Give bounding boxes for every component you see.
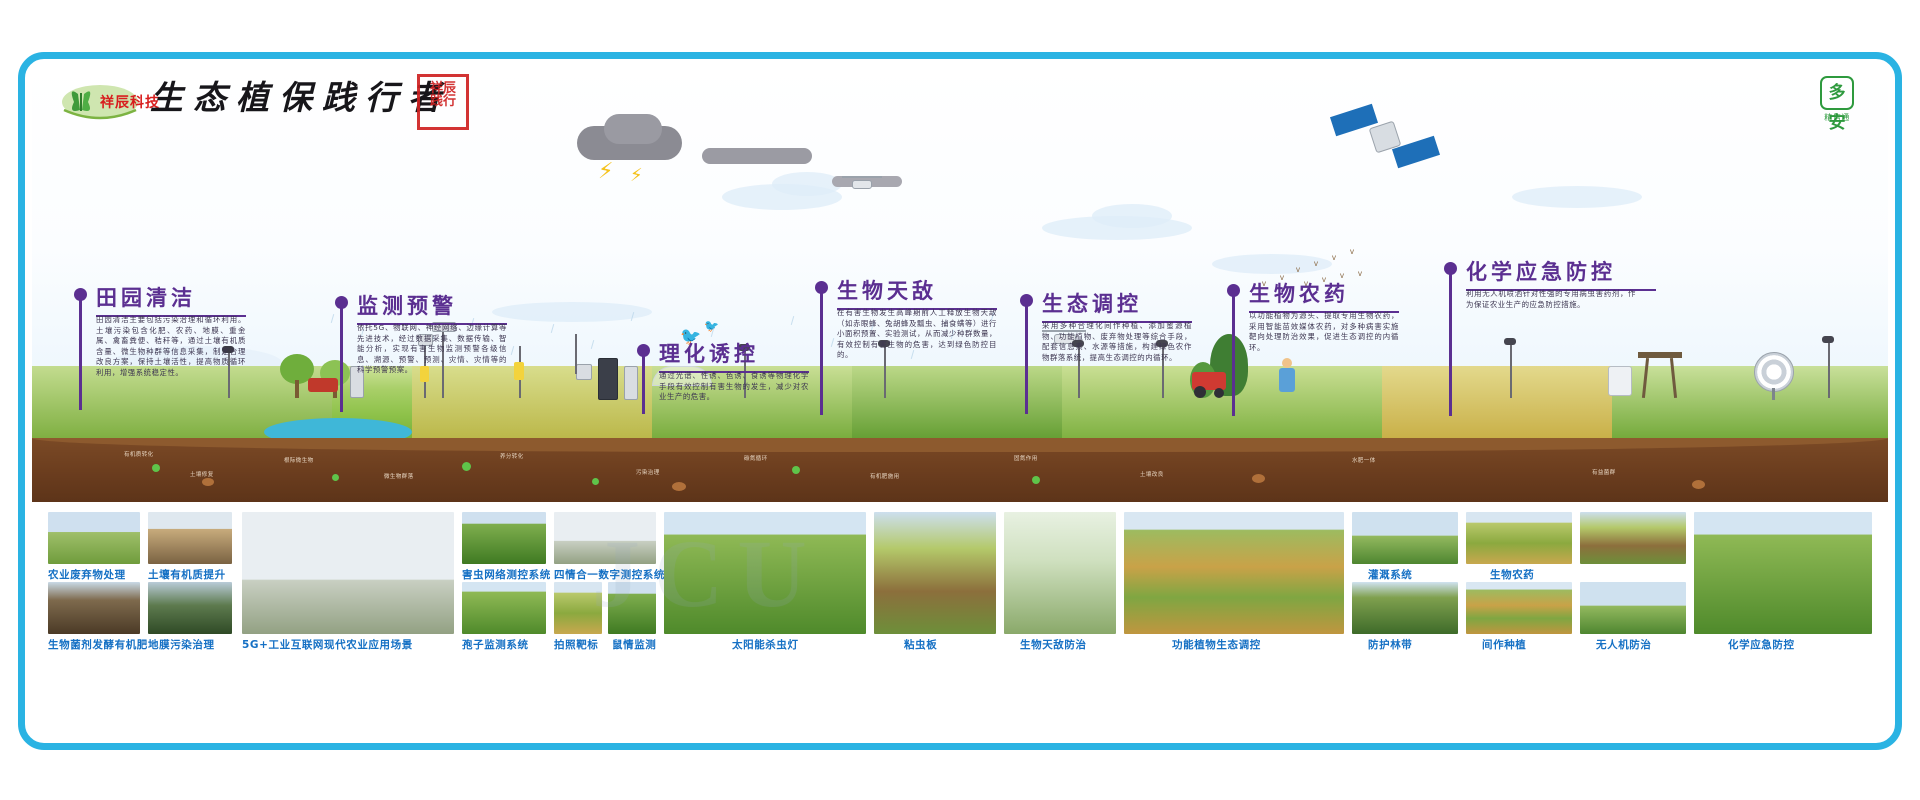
section-title: 生物农药 bbox=[1249, 278, 1399, 313]
goose-icon: v bbox=[1358, 270, 1362, 278]
poster-frame: ⚡ ⚡ 🐦 🐦 v v v v v v v v v bbox=[18, 52, 1902, 750]
gallery-photo[interactable] bbox=[1694, 512, 1872, 634]
gallery-caption: 农业废弃物处理 bbox=[48, 567, 126, 582]
organic-matter-dot bbox=[1252, 474, 1265, 483]
soil-label: 水肥一体 bbox=[1352, 456, 1376, 464]
section-title: 生物天敌 bbox=[837, 275, 997, 310]
harvester-icon bbox=[308, 378, 338, 392]
gallery-photo[interactable] bbox=[462, 512, 546, 564]
gallery-caption: 生物天敌防治 bbox=[1020, 637, 1087, 652]
gallery-photo[interactable] bbox=[664, 512, 866, 634]
field-band bbox=[1382, 366, 1612, 444]
organic-matter-dot bbox=[672, 482, 686, 491]
drone-icon bbox=[852, 180, 872, 189]
gallery-photo[interactable] bbox=[1580, 582, 1686, 634]
gallery-photo[interactable] bbox=[1124, 512, 1344, 634]
goose-icon: v bbox=[1296, 266, 1300, 274]
gallery-caption: 害虫网络测控系统 bbox=[462, 567, 551, 582]
gallery-photo[interactable] bbox=[1352, 582, 1458, 634]
gallery-photo[interactable] bbox=[48, 512, 140, 564]
gallery-caption: 功能植物生态调控 bbox=[1172, 637, 1261, 652]
soil-label: 有益菌群 bbox=[1592, 468, 1616, 476]
section-title: 理化诱控 bbox=[659, 338, 809, 373]
goose-icon: v bbox=[1332, 254, 1336, 262]
lightning-icon: ⚡ bbox=[630, 166, 643, 184]
section-body: 依托5G、物联网、神经网络、边缘计算等先进技术，经过数据采集、数据传输、智能分析… bbox=[357, 323, 507, 376]
pin-stem bbox=[1449, 274, 1452, 416]
soil-top-layer bbox=[32, 438, 1888, 452]
gallery-caption: 鼠情监测 bbox=[612, 637, 656, 652]
observation-tower bbox=[1638, 352, 1682, 358]
lamp-head-icon bbox=[1504, 338, 1516, 345]
soil-label: 有机质转化 bbox=[124, 450, 154, 458]
goose-icon: v bbox=[1350, 248, 1354, 256]
section-title: 监测预警 bbox=[357, 290, 507, 325]
gallery-caption: 间作种植 bbox=[1482, 637, 1526, 652]
corner-logo: 多安 精信通 bbox=[1812, 76, 1862, 130]
section-title: 化学应急防控 bbox=[1466, 256, 1656, 291]
rain-streak bbox=[591, 340, 594, 349]
monitor-pole bbox=[575, 334, 577, 374]
poster-header: 祥辰科技 生态植保践行者 祥辰 践行 多安 精信通 bbox=[32, 66, 1888, 152]
soil-label: 土壤改良 bbox=[1140, 470, 1164, 478]
soil-label: 养分转化 bbox=[500, 452, 524, 460]
rain-streak bbox=[791, 316, 794, 325]
poster-inner: ⚡ ⚡ 🐦 🐦 v v v v v v v v v bbox=[32, 66, 1888, 736]
cloud-decoration bbox=[1512, 186, 1642, 208]
lamp-head-icon bbox=[1822, 336, 1834, 343]
gallery-photo[interactable] bbox=[1004, 512, 1116, 634]
soil-label: 微生物群落 bbox=[384, 472, 414, 480]
microbe-dot bbox=[462, 462, 471, 471]
section-title: 生态调控 bbox=[1042, 288, 1192, 323]
seal-line-2: 践行 bbox=[423, 94, 463, 107]
rain-streak bbox=[511, 346, 514, 355]
gallery-caption: 防护林带 bbox=[1368, 637, 1412, 652]
cloud-decoration bbox=[1092, 204, 1172, 228]
radar-mast bbox=[1772, 388, 1775, 400]
gallery-caption: 拍照靶标 bbox=[554, 637, 598, 652]
gallery-photo[interactable] bbox=[148, 512, 232, 564]
gallery-caption: 化学应急防控 bbox=[1728, 637, 1795, 652]
gallery-caption: 生物菌剂发酵有机肥 bbox=[48, 637, 148, 652]
soil-label: 有机肥施用 bbox=[870, 472, 900, 480]
tree-trunk bbox=[295, 380, 299, 398]
gallery-photo[interactable] bbox=[1580, 512, 1686, 564]
microbe-dot bbox=[592, 478, 599, 485]
organic-matter-dot bbox=[202, 478, 214, 486]
corner-logo-name: 精信通 bbox=[1812, 112, 1862, 123]
gallery-caption: 生物农药 bbox=[1490, 567, 1534, 582]
cloud-decoration bbox=[492, 302, 652, 322]
rain-streak bbox=[331, 314, 334, 323]
rain-streak bbox=[551, 324, 554, 333]
tractor-wheel bbox=[1194, 386, 1206, 398]
gallery-caption: 无人机防治 bbox=[1596, 637, 1652, 652]
insect-lamp-icon bbox=[514, 362, 524, 380]
soil-label: 污染治理 bbox=[636, 468, 660, 476]
section-body: 采用多种合理化间作种植、添加蜜源植物、功能植物、废弃物处理等综合手段，配套信息素… bbox=[1042, 321, 1192, 363]
gallery-photo[interactable] bbox=[48, 582, 140, 634]
gallery-photo[interactable] bbox=[554, 512, 656, 564]
radar-dish-icon bbox=[1754, 352, 1794, 392]
microbe-dot bbox=[792, 466, 800, 474]
gallery-caption: 土壤有机质提升 bbox=[148, 567, 226, 582]
red-seal-stamp: 祥辰 践行 bbox=[417, 74, 469, 130]
soil-label: 根际微生物 bbox=[284, 456, 314, 464]
gallery-caption: 地膜污染治理 bbox=[148, 637, 215, 652]
microbe-dot bbox=[1032, 476, 1040, 484]
gallery-caption: 5G+工业互联网现代农业应用场景 bbox=[242, 637, 413, 652]
gallery-photo[interactable] bbox=[874, 512, 996, 634]
soil-label: 土壤修复 bbox=[190, 470, 214, 478]
control-cabinet bbox=[624, 366, 638, 400]
sensor-box bbox=[576, 364, 592, 380]
soil-label: 固氮作用 bbox=[1014, 454, 1038, 462]
organic-matter-dot bbox=[1692, 480, 1705, 489]
gallery-caption: 孢子监测系统 bbox=[462, 637, 529, 652]
gallery-photo[interactable] bbox=[148, 582, 232, 634]
photo-gallery: 农业废弃物处理 生物菌剂发酵有机肥 土壤有机质提升 地膜污染治理 5G+工业互联… bbox=[32, 506, 1888, 736]
pin-stem bbox=[1025, 306, 1028, 414]
cloud-decoration bbox=[772, 172, 842, 196]
section-body: 以功能植物为源头、提取专用生物农药，采用智能苗效媒体农药，对多种病害实施靶向处理… bbox=[1249, 311, 1399, 353]
gallery-photo[interactable] bbox=[1466, 582, 1572, 634]
farmer-figure bbox=[1282, 358, 1292, 368]
gallery-photo[interactable] bbox=[242, 512, 454, 634]
section-title: 田园清洁 bbox=[96, 282, 246, 317]
microbe-dot bbox=[332, 474, 339, 481]
page-title: 生态植保践行者 bbox=[150, 71, 451, 119]
brand-logo: 祥辰科技 bbox=[60, 80, 164, 124]
gallery-caption: 灌溉系统 bbox=[1368, 567, 1412, 582]
microbe-dot bbox=[152, 464, 160, 472]
soil-cross-section: 有机质转化 土壤修复 根际微生物 微生物群落 养分转化 污染治理 碳氮循环 有机… bbox=[32, 438, 1888, 502]
gallery-photo[interactable] bbox=[1466, 512, 1572, 564]
section-body: 通过光谱、性诱、色诱、食诱等物理化学手段有效控制有害生物的发生，减少对农业生产的… bbox=[659, 371, 809, 403]
corner-badge-text: 多安 bbox=[1820, 76, 1854, 110]
gallery-caption: 四情合一数字测控系统 bbox=[554, 567, 665, 582]
farmer-figure bbox=[1279, 368, 1295, 392]
pin-stem bbox=[79, 300, 82, 410]
monitor-pole bbox=[1510, 342, 1512, 398]
section-body: 田园清洁主要包括污染治理和循环利用。土壤污染包含化肥、农药、地膜、重金属、禽畜粪… bbox=[96, 315, 246, 379]
swallow-icon: 🐦 bbox=[704, 322, 719, 331]
field-band bbox=[1612, 366, 1888, 444]
section-body: 利用无人机喷洒针对性强的专用病虫害药剂，作为保证农业生产的应急防控措施。 bbox=[1466, 289, 1636, 310]
soil-label: 碳氮循环 bbox=[744, 454, 768, 462]
goose-icon: v bbox=[1314, 260, 1318, 268]
section-body: 在有害生物发生高峰期前人工释放生物天敌（如赤眼蜂、兔胡蜂及瓢虫、捕食螨等）进行小… bbox=[837, 308, 997, 361]
pin-stem bbox=[642, 356, 645, 414]
lightning-icon: ⚡ bbox=[598, 160, 613, 182]
control-cabinet bbox=[598, 358, 618, 400]
gallery-photo[interactable] bbox=[554, 582, 602, 634]
monitor-pole bbox=[1828, 340, 1830, 398]
pin-stem bbox=[1232, 296, 1235, 416]
gallery-caption: 粘虫板 bbox=[904, 637, 937, 652]
gallery-photo[interactable] bbox=[462, 582, 546, 634]
field-robot bbox=[1608, 366, 1632, 396]
pin-stem bbox=[340, 308, 343, 412]
pin-stem bbox=[820, 293, 823, 415]
gallery-caption: 太阳能杀虫灯 bbox=[732, 637, 799, 652]
tractor-wheel bbox=[1214, 388, 1224, 398]
gallery-photo[interactable] bbox=[608, 582, 656, 634]
gallery-photo[interactable] bbox=[1352, 512, 1458, 564]
rain-streak bbox=[831, 338, 834, 347]
